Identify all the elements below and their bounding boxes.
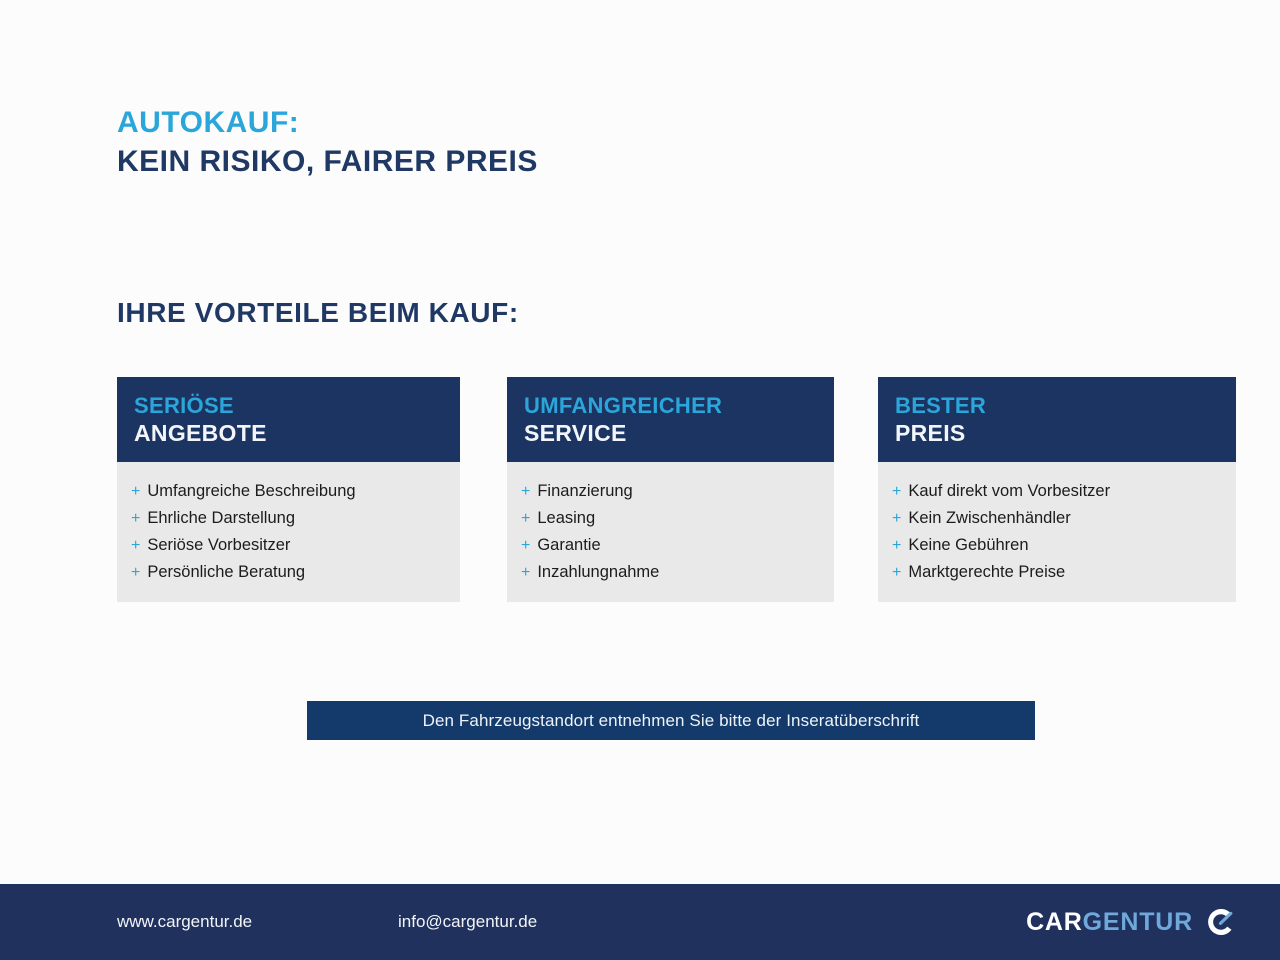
benefit-cards: SERIÖSE ANGEBOTE + Umfangreiche Beschrei… xyxy=(117,377,1237,602)
list-item: + Persönliche Beratung xyxy=(131,559,444,586)
list-item: + Keine Gebühren xyxy=(892,532,1220,559)
card-header-bottom: ANGEBOTE xyxy=(134,420,443,446)
list-item-label: Persönliche Beratung xyxy=(147,559,305,586)
list-item-label: Umfangreiche Beschreibung xyxy=(147,478,355,505)
card-header: BESTER PREIS xyxy=(878,377,1236,462)
card-header: UMFANGREICHER SERVICE xyxy=(507,377,834,462)
location-notice-text: Den Fahrzeugstandort entnehmen Sie bitte… xyxy=(423,711,920,731)
plus-icon: + xyxy=(521,506,530,532)
list-item: + Leasing xyxy=(521,505,818,532)
list-item-label: Inzahlungnahme xyxy=(537,559,659,586)
plus-icon: + xyxy=(521,533,530,559)
plus-icon: + xyxy=(131,533,140,559)
footer-bar: www.cargentur.de info@cargentur.de CAR G… xyxy=(0,884,1280,960)
brand-logo: CAR GENTUR xyxy=(1026,906,1237,938)
card-header: SERIÖSE ANGEBOTE xyxy=(117,377,460,462)
card-body: + Kauf direkt vom Vorbesitzer + Kein Zwi… xyxy=(878,462,1236,602)
card-header-bottom: PREIS xyxy=(895,420,1219,446)
list-item: + Finanzierung xyxy=(521,478,818,505)
plus-icon: + xyxy=(131,506,140,532)
logo-text-gentur: GENTUR xyxy=(1083,908,1193,937)
list-item-label: Ehrliche Darstellung xyxy=(147,505,295,532)
card-header-top: SERIÖSE xyxy=(134,394,443,418)
list-item-label: Keine Gebühren xyxy=(908,532,1028,559)
card-body: + Umfangreiche Beschreibung + Ehrliche D… xyxy=(117,462,460,602)
list-item: + Garantie xyxy=(521,532,818,559)
plus-icon: + xyxy=(131,560,140,586)
benefit-list: + Finanzierung + Leasing + Garantie + In… xyxy=(521,478,818,586)
list-item-label: Finanzierung xyxy=(537,478,632,505)
plus-icon: + xyxy=(521,479,530,505)
list-item: + Marktgerechte Preise xyxy=(892,559,1220,586)
footer-website-link[interactable]: www.cargentur.de xyxy=(117,912,252,932)
footer-email-link[interactable]: info@cargentur.de xyxy=(398,912,537,932)
benefit-card-bester-preis: BESTER PREIS + Kauf direkt vom Vorbesitz… xyxy=(878,377,1236,602)
plus-icon: + xyxy=(892,479,901,505)
list-item-label: Seriöse Vorbesitzer xyxy=(147,532,290,559)
list-item-label: Kein Zwischenhändler xyxy=(908,505,1070,532)
card-body: + Finanzierung + Leasing + Garantie + In… xyxy=(507,462,834,602)
plus-icon: + xyxy=(892,506,901,532)
c-speedometer-icon xyxy=(1205,906,1237,938)
plus-icon: + xyxy=(131,479,140,505)
page-title: AUTOKAUF: KEIN RISIKO, FAIRER PREIS xyxy=(117,108,538,177)
list-item-label: Marktgerechte Preise xyxy=(908,559,1065,586)
list-item: + Ehrliche Darstellung xyxy=(131,505,444,532)
card-header-bottom: SERVICE xyxy=(524,420,817,446)
benefit-card-umfangreicher-service: UMFANGREICHER SERVICE + Finanzierung + L… xyxy=(507,377,834,602)
list-item-label: Garantie xyxy=(537,532,600,559)
plus-icon: + xyxy=(892,533,901,559)
location-notice-banner: Den Fahrzeugstandort entnehmen Sie bitte… xyxy=(307,701,1035,740)
list-item-label: Leasing xyxy=(537,505,595,532)
list-item: + Seriöse Vorbesitzer xyxy=(131,532,444,559)
headline-line-1: AUTOKAUF: xyxy=(117,108,538,139)
list-item: + Kauf direkt vom Vorbesitzer xyxy=(892,478,1220,505)
plus-icon: + xyxy=(521,560,530,586)
plus-icon: + xyxy=(892,560,901,586)
card-header-top: BESTER xyxy=(895,394,1219,418)
logo-text-car: CAR xyxy=(1026,908,1083,937)
section-title: IHRE VORTEILE BEIM KAUF: xyxy=(117,297,519,329)
benefit-card-serioese-angebote: SERIÖSE ANGEBOTE + Umfangreiche Beschrei… xyxy=(117,377,460,602)
list-item: + Kein Zwischenhändler xyxy=(892,505,1220,532)
list-item-label: Kauf direkt vom Vorbesitzer xyxy=(908,478,1110,505)
benefit-list: + Kauf direkt vom Vorbesitzer + Kein Zwi… xyxy=(892,478,1220,586)
headline-line-2: KEIN RISIKO, FAIRER PREIS xyxy=(117,147,538,178)
list-item: + Umfangreiche Beschreibung xyxy=(131,478,444,505)
benefit-list: + Umfangreiche Beschreibung + Ehrliche D… xyxy=(131,478,444,586)
list-item: + Inzahlungnahme xyxy=(521,559,818,586)
slide-root: AUTOKAUF: KEIN RISIKO, FAIRER PREIS IHRE… xyxy=(0,0,1280,960)
card-header-top: UMFANGREICHER xyxy=(524,394,817,418)
